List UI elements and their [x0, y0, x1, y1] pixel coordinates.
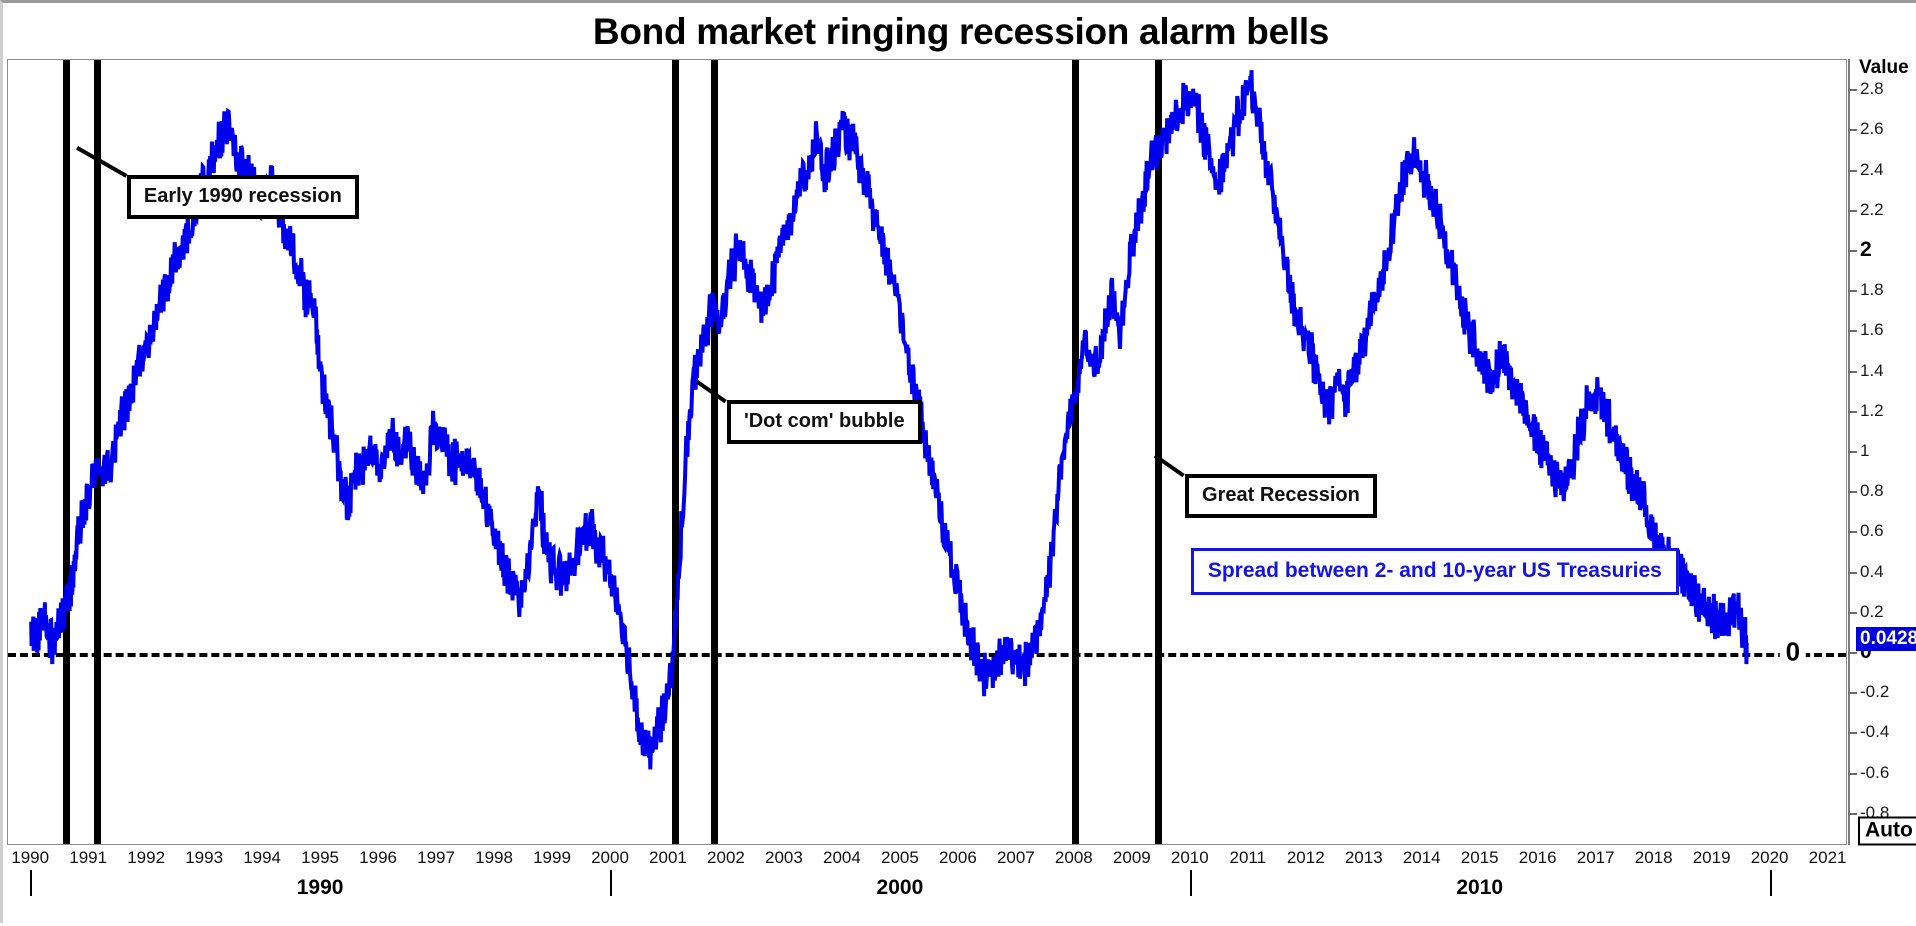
zero-line-label: 0: [1780, 637, 1806, 668]
current-value-badge: 0.0428: [1856, 627, 1916, 651]
year-label: 1996: [359, 848, 397, 868]
chart-title: Bond market ringing recession alarm bell…: [3, 11, 1916, 53]
year-label: 1991: [69, 848, 107, 868]
year-label: 1995: [301, 848, 339, 868]
annotation-dot-com-bubble: 'Dot com' bubble: [727, 400, 922, 444]
axis-tick-label: -0.4: [1860, 722, 1889, 742]
axis-tick: [1848, 773, 1857, 775]
axis-tick: [1848, 129, 1857, 131]
decade-tick: [30, 870, 32, 896]
year-label: 2016: [1519, 848, 1557, 868]
annotation-label: Early 1990 recession: [144, 185, 342, 207]
axis-tick: [1848, 89, 1857, 91]
axis-tick-label: 2.2: [1860, 200, 1884, 220]
year-label: 2012: [1287, 848, 1325, 868]
annotation-label: Spread between 2- and 10-year US Treasur…: [1208, 559, 1662, 582]
annotation-great-recession: Great Recession: [1185, 474, 1377, 518]
value-axis[interactable]: Value 2.82.62.42.221.81.61.41.210.80.60.…: [1848, 59, 1916, 845]
axis-tick: [1848, 531, 1857, 533]
axis-tick: [1848, 411, 1857, 413]
year-label: 1992: [127, 848, 165, 868]
axis-tick-label: 1.4: [1860, 361, 1884, 381]
axis-tick-label: 2.4: [1860, 160, 1884, 180]
axis-tick: [1848, 732, 1857, 734]
year-label: 1998: [475, 848, 513, 868]
axis-tick-label: 2.8: [1860, 79, 1884, 99]
year-label: 2018: [1635, 848, 1673, 868]
axis-tick-label: 1.6: [1860, 320, 1884, 340]
year-label: 2007: [997, 848, 1035, 868]
decade-label: 2000: [877, 876, 924, 900]
value-axis-header: Value: [1859, 57, 1909, 79]
year-label: 1994: [243, 848, 281, 868]
year-label: 1993: [185, 848, 223, 868]
year-label: 2019: [1693, 848, 1731, 868]
plot-area[interactable]: Early 1990 recession'Dot com' bubbleGrea…: [7, 59, 1847, 845]
decade-label: 1990: [297, 876, 344, 900]
decade-tick: [610, 870, 612, 896]
year-label: 2008: [1055, 848, 1093, 868]
axis-tick-label: 0.2: [1860, 602, 1884, 622]
axis-tick-label: -0.6: [1860, 763, 1889, 783]
year-label: 1990: [11, 848, 49, 868]
axis-tick-label: 2.6: [1860, 119, 1884, 139]
year-label: 2004: [823, 848, 861, 868]
year-label: 2009: [1113, 848, 1151, 868]
axis-tick: [1848, 612, 1857, 614]
annotation-series-label: Spread between 2- and 10-year US Treasur…: [1191, 548, 1679, 594]
axis-tick: [1848, 210, 1857, 212]
axis-tick-label: 2: [1860, 238, 1872, 262]
axis-tick: [1848, 170, 1857, 172]
year-label: 2020: [1751, 848, 1789, 868]
year-label: 2017: [1577, 848, 1615, 868]
year-label: 1999: [533, 848, 571, 868]
decade-label: 2010: [1456, 876, 1503, 900]
year-label: 2011: [1230, 848, 1267, 868]
year-label: 1997: [417, 848, 455, 868]
auto-scale-button[interactable]: Auto: [1858, 817, 1916, 846]
axis-tick: [1848, 572, 1857, 574]
axis-tick: [1848, 250, 1857, 252]
axis-tick-label: 1: [1860, 441, 1869, 461]
axis-tick-label: 0.8: [1860, 481, 1884, 501]
year-label: 2015: [1461, 848, 1499, 868]
axis-tick-label: 1.8: [1860, 280, 1884, 300]
year-label: 2005: [881, 848, 919, 868]
axis-tick-label: 1.2: [1860, 401, 1884, 421]
axis-tick-label: 0.4: [1860, 562, 1884, 582]
decade-tick: [1190, 870, 1192, 896]
axis-tick: [1848, 371, 1857, 373]
axis-tick: [1848, 491, 1857, 493]
annotation-early-1990-recession: Early 1990 recession: [127, 175, 359, 219]
year-label: 2002: [707, 848, 745, 868]
annotation-label: 'Dot com' bubble: [744, 410, 905, 432]
axis-tick: [1848, 692, 1857, 694]
axis-tick-label: 0.6: [1860, 521, 1884, 541]
year-label: 2021: [1809, 848, 1847, 868]
time-axis[interactable]: 1990199119921993199419951996199719981999…: [7, 846, 1847, 926]
year-label: 2010: [1171, 848, 1209, 868]
year-label: 2000: [591, 848, 629, 868]
year-label: 2013: [1345, 848, 1383, 868]
axis-tick: [1848, 652, 1857, 654]
year-label: 2014: [1403, 848, 1441, 868]
axis-tick-label: -0.2: [1860, 682, 1889, 702]
axis-tick: [1848, 290, 1857, 292]
year-label: 2003: [765, 848, 803, 868]
axis-tick: [1848, 451, 1857, 453]
chart-window: Bond market ringing recession alarm bell…: [0, 0, 1916, 923]
axis-tick: [1848, 330, 1857, 332]
annotation-label: Great Recession: [1202, 484, 1360, 506]
year-label: 2001: [649, 848, 687, 868]
axis-tick: [1848, 813, 1857, 815]
year-label: 2006: [939, 848, 977, 868]
decade-tick: [1770, 870, 1772, 896]
